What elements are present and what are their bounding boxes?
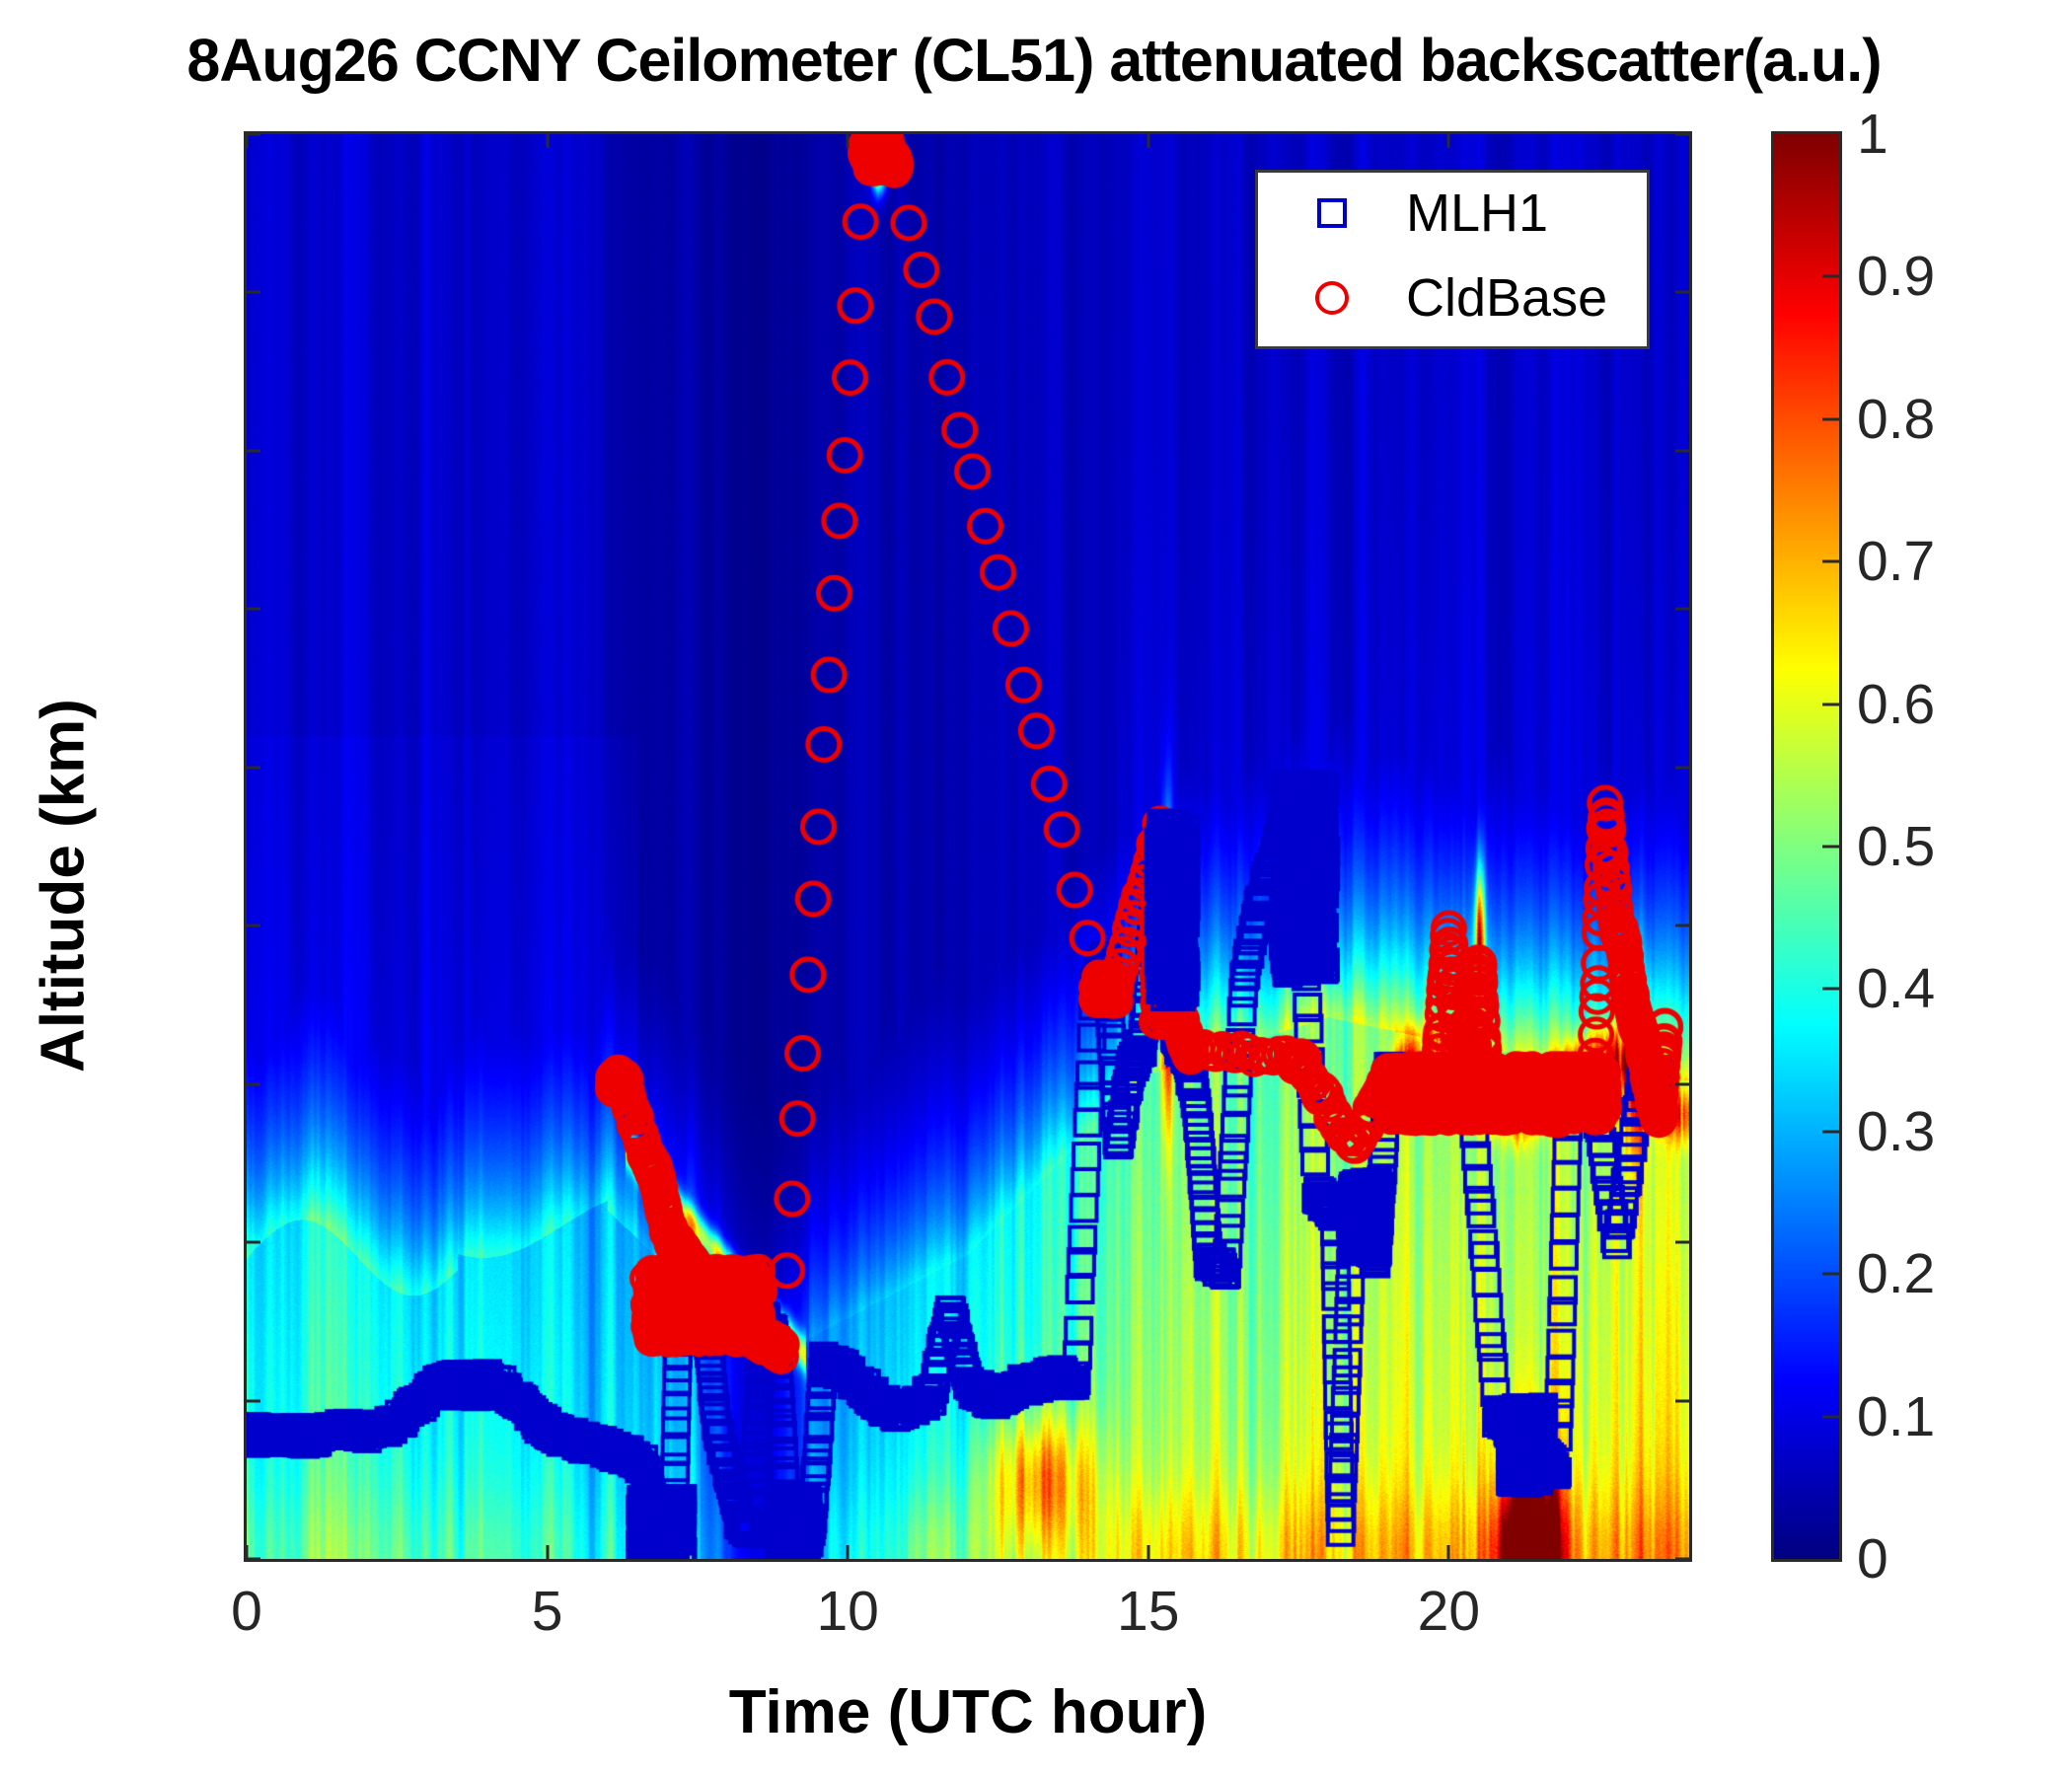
y-tick-mark-right	[1675, 925, 1692, 927]
y-tick-mark-right	[1675, 291, 1692, 294]
y-tick-mark	[244, 291, 260, 294]
x-tick-mark	[546, 1545, 549, 1562]
x-tick-label: 10	[816, 1579, 878, 1644]
x-tick-mark-top	[1447, 131, 1450, 148]
colorbar-tick-label: 0.9	[1857, 244, 1935, 309]
y-tick-mark	[244, 766, 260, 769]
y-tick-mark-right	[1675, 608, 1692, 611]
circle-marker-icon	[1258, 281, 1406, 315]
colorbar-tick-mark	[1822, 560, 1842, 563]
colorbar-tick-label: 0.1	[1857, 1384, 1935, 1449]
x-tick-mark-top	[847, 131, 850, 148]
y-tick-mark	[244, 449, 260, 452]
colorbar-tick-label: 0	[1857, 1526, 1888, 1591]
y-tick-mark	[244, 608, 260, 611]
colorbar-tick-label: 0.4	[1857, 956, 1935, 1021]
x-axis-label: Time (UTC hour)	[244, 1677, 1692, 1747]
x-tick-label: 15	[1117, 1579, 1179, 1644]
colorbar-tick-mark	[1822, 1130, 1842, 1133]
y-tick-mark	[244, 1241, 260, 1244]
x-tick-mark-top	[1147, 131, 1149, 148]
colorbar-tick-mark	[1822, 1273, 1842, 1276]
x-tick-mark-top	[546, 131, 549, 148]
x-tick-label: 5	[532, 1579, 563, 1644]
colorbar-tick-mark	[1822, 846, 1842, 849]
y-tick-mark	[244, 925, 260, 927]
colorbar-tick-label: 0.3	[1857, 1099, 1935, 1164]
square-marker-icon	[1258, 198, 1406, 228]
y-tick-mark-right	[1675, 1082, 1692, 1085]
y-tick-mark-right	[1675, 133, 1692, 136]
legend-label-mlh1: MLH1	[1406, 183, 1548, 244]
colorbar-tick-label: 0.2	[1857, 1241, 1935, 1306]
colorbar-tick-label: 0.8	[1857, 387, 1935, 452]
y-tick-mark	[244, 1399, 260, 1402]
legend-box: MLH1 CldBase	[1255, 170, 1650, 349]
y-tick-mark	[244, 1082, 260, 1085]
y-axis-label: Altitude (km)	[29, 570, 99, 1202]
colorbar-tick-mark	[1822, 988, 1842, 991]
colorbar-tick-label: 0.6	[1857, 672, 1935, 737]
y-tick-mark-right	[1675, 1399, 1692, 1402]
x-tick-label: 20	[1418, 1579, 1480, 1644]
x-tick-mark-top	[246, 131, 249, 148]
legend-label-cldbase: CldBase	[1406, 267, 1607, 329]
x-tick-label: 0	[231, 1579, 262, 1644]
colorbar-tick-mark	[1822, 417, 1842, 420]
colorbar-tick-mark	[1822, 275, 1842, 278]
colorbar-tick-label: 0.5	[1857, 814, 1935, 879]
y-tick-mark-right	[1675, 766, 1692, 769]
figure-title: 8Aug26 CCNY Ceilometer (CL51) attenuated…	[0, 26, 2072, 95]
y-tick-mark-right	[1675, 1241, 1692, 1244]
legend-item-mlh1: MLH1	[1258, 177, 1647, 250]
legend-item-cldbase: CldBase	[1258, 261, 1647, 334]
x-tick-mark	[847, 1545, 850, 1562]
colorbar-tick-label: 0.7	[1857, 529, 1935, 594]
y-tick-mark-right	[1675, 1558, 1692, 1561]
x-tick-mark	[1147, 1545, 1149, 1562]
y-tick-mark-right	[1675, 449, 1692, 452]
x-tick-mark	[246, 1545, 249, 1562]
colorbar-tick-mark	[1822, 1415, 1842, 1418]
colorbar-tick-label: 1	[1857, 102, 1888, 167]
x-tick-mark	[1447, 1545, 1450, 1562]
colorbar-tick-mark	[1822, 703, 1842, 705]
